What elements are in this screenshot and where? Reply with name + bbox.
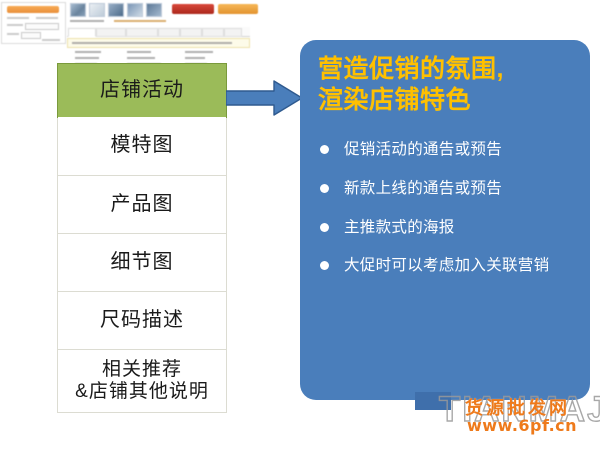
bullet-label: 促销活动的通告或预告 [344,141,502,158]
bullet-dot-icon [320,223,329,232]
tab-item[interactable] [158,28,180,37]
thumbnail-strip [70,3,162,17]
watermark: TIANMAJU 货源批发网 www.6pf.cn [415,392,600,450]
tab-item[interactable] [202,28,224,37]
bullet-item: 新款上线的通告或预告 [318,179,574,199]
bullet-dot-icon [320,261,329,270]
flow-row-label: 尺码描述 [100,309,184,333]
flow-row-product-photo[interactable]: 产品图 [58,176,226,234]
tab-bar [67,27,250,37]
flow-row-model-photo[interactable]: 模特图 [58,117,226,176]
bullet-label: 主推款式的海报 [344,219,455,236]
login-panel [1,2,66,44]
tab-item[interactable] [96,28,126,37]
bullet-item: 大促时可以考虑加入关联营销 [318,256,574,276]
thumbnail-image[interactable] [127,3,143,17]
thumbnail-image[interactable] [70,3,86,17]
thumbnail-image[interactable] [146,3,162,17]
thumbnail-image[interactable] [108,3,124,17]
bullet-item: 促销活动的通告或预告 [318,140,574,160]
flow-row-store-activity[interactable]: 店铺活动 [57,63,227,118]
flow-row-label: 产品图 [111,193,174,217]
thumbnail-image[interactable] [89,3,105,17]
flow-row-label: 细节图 [111,251,174,275]
login-button[interactable] [7,6,59,13]
flow-row-label: 模特图 [111,134,174,158]
primary-cta-button[interactable] [172,4,214,14]
flow-row-label: 店铺活动 [100,79,184,103]
bullet-item: 主推款式的海报 [318,218,574,238]
panel-title: 营造促销的氛围, 渲染店铺特色 [318,54,574,116]
flow-row-related-recommendation[interactable]: 相关推荐 &店铺其他说明 [58,350,226,412]
flow-row-size-description[interactable]: 尺码描述 [58,292,226,350]
tab-item[interactable] [180,28,202,37]
tab-item[interactable] [126,28,158,37]
right-arrow-icon [226,77,304,119]
sub-links-row [70,19,190,24]
promotion-info-panel: 营造促销的氛围, 渲染店铺特色 促销活动的通告或预告 新款上线的通告或预告 主推… [300,40,590,400]
flow-row-label: 相关推荐 &店铺其他说明 [75,359,209,404]
bullet-label: 新款上线的通告或预告 [344,180,502,197]
tab-item[interactable] [68,28,96,37]
secondary-cta-button[interactable] [218,4,258,14]
bullet-label: 大促时可以考虑加入关联营销 [344,257,549,274]
flow-row-detail-photo[interactable]: 细节图 [58,234,226,292]
page-section-flow-list: 店铺活动 模特图 产品图 细节图 尺码描述 相关推荐 &店铺其他说明 [57,63,227,413]
tab-item[interactable] [224,28,242,37]
bullet-dot-icon [320,184,329,193]
watermark-url-text: www.6pf.cn [467,416,577,435]
notice-bar [67,38,250,48]
panel-bullet-list: 促销活动的通告或预告 新款上线的通告或预告 主推款式的海报 大促时可以考虑加入关… [318,140,574,276]
bullet-dot-icon [320,145,329,154]
